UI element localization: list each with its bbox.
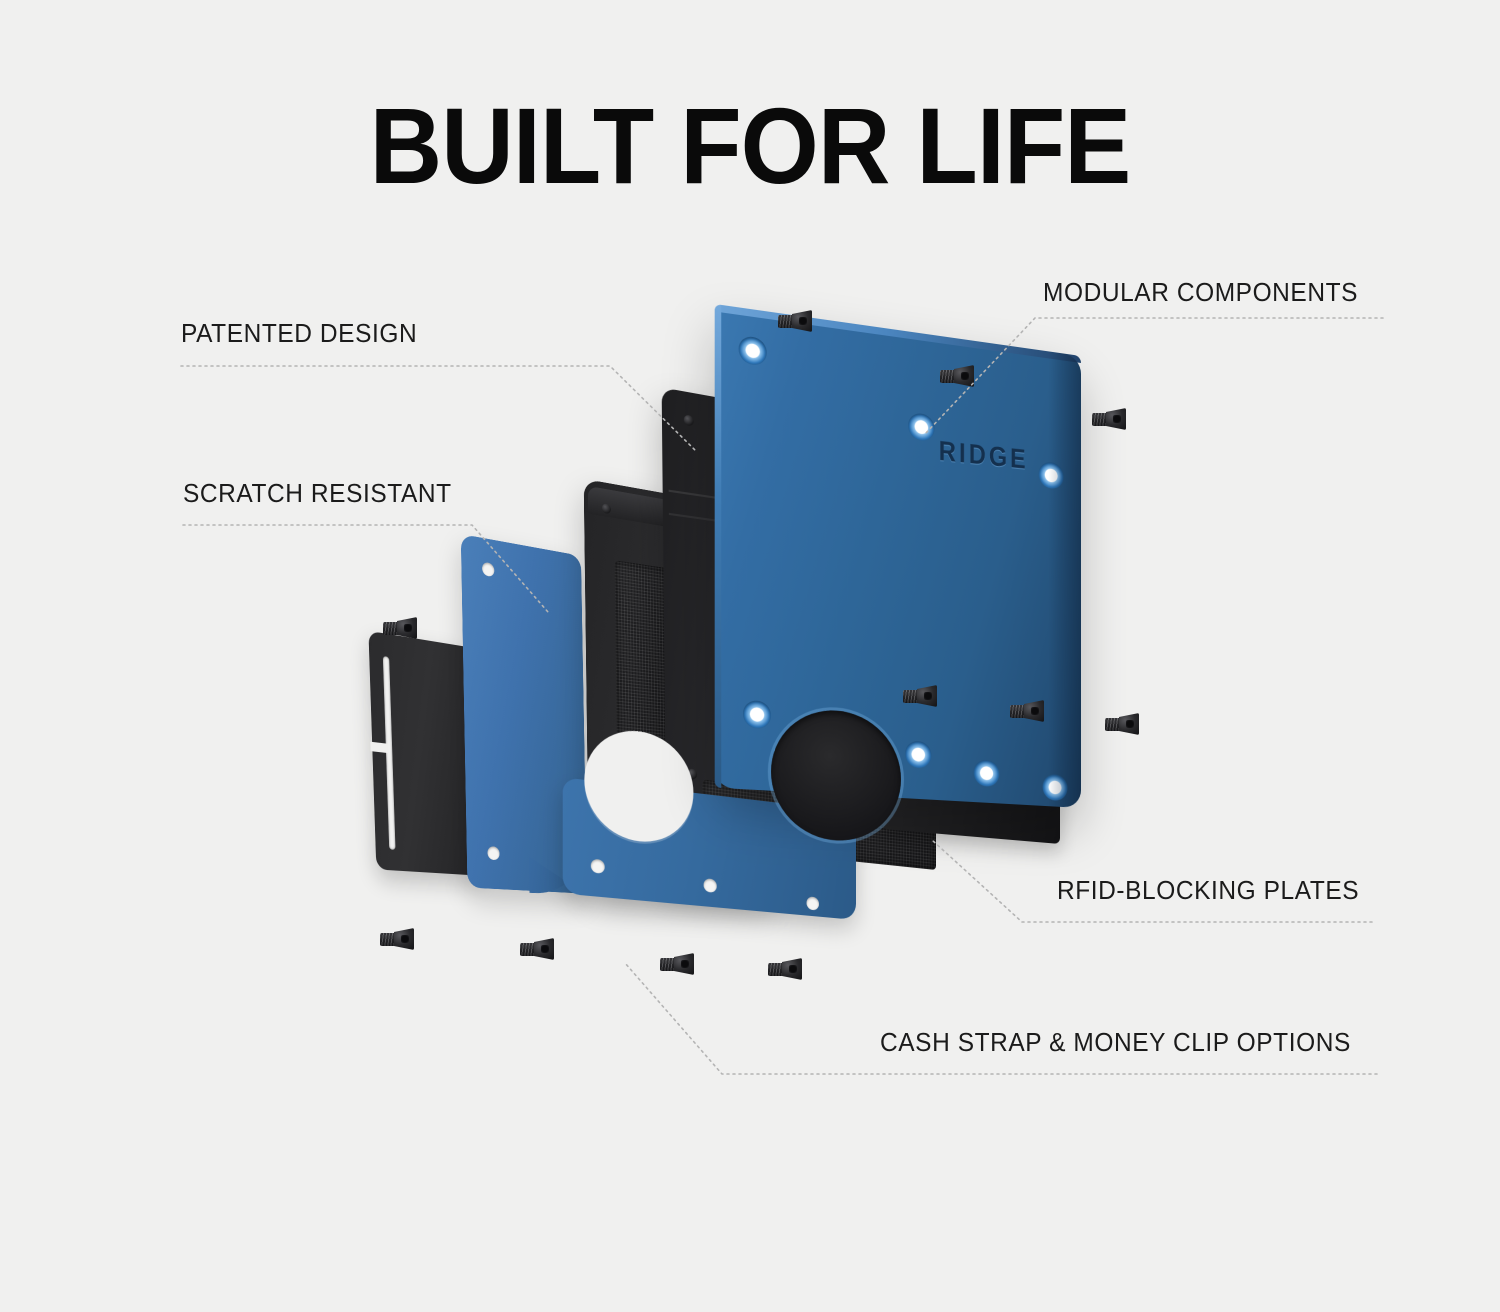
callout-rfid-blocking-plates: RFID-BLOCKING PLATES xyxy=(1057,877,1359,906)
screw-icon xyxy=(768,958,802,980)
screw-hex-slot xyxy=(1113,415,1121,423)
infographic-page: BUILT FOR LIFE xyxy=(0,0,1500,1312)
screw-hole xyxy=(807,896,819,910)
screw-hole xyxy=(591,859,605,874)
screw-icon xyxy=(903,685,937,707)
screw-hex-slot xyxy=(789,965,797,973)
screw-hole xyxy=(704,878,717,893)
screw-hex-slot xyxy=(404,624,412,632)
callout-scratch-resistant: SCRATCH RESISTANT xyxy=(183,480,452,509)
money-clip-notch xyxy=(370,742,388,753)
callout-modular-components: MODULAR COMPONENTS xyxy=(1043,279,1358,308)
screw-icon xyxy=(1105,713,1139,735)
screw-hex-slot xyxy=(961,372,969,380)
screw-icon xyxy=(940,365,974,387)
front-blue-plate-part: RIDGE xyxy=(715,304,1081,808)
screw-hex-slot xyxy=(541,945,549,953)
screw-hex-slot xyxy=(681,960,689,968)
callout-cash-strap-money-clip: CASH STRAP & MONEY CLIP OPTIONS xyxy=(880,1029,1351,1058)
screw-icon xyxy=(383,617,417,639)
exploded-product-illustration: RIDGE xyxy=(0,0,1500,1312)
callout-patented-design: PATENTED DESIGN xyxy=(181,320,417,349)
screw-icon xyxy=(1092,408,1126,430)
screw-hex-slot xyxy=(799,317,807,325)
screw-hex-slot xyxy=(401,935,409,943)
screw-icon xyxy=(520,938,554,960)
front-plate-shadow xyxy=(1048,351,1081,808)
front-blue-plate-body xyxy=(715,304,1081,808)
front-plate-left-bevel xyxy=(715,304,722,788)
screw-icon xyxy=(778,310,812,332)
screw-hex-slot xyxy=(1031,707,1039,715)
screw-icon xyxy=(660,953,694,975)
screw-hole xyxy=(487,846,499,860)
screw-hex-slot xyxy=(1126,720,1134,728)
screw-hex-slot xyxy=(924,692,932,700)
screw-icon xyxy=(380,928,414,950)
screw-icon xyxy=(1010,700,1044,722)
screw-hole xyxy=(974,759,1000,787)
